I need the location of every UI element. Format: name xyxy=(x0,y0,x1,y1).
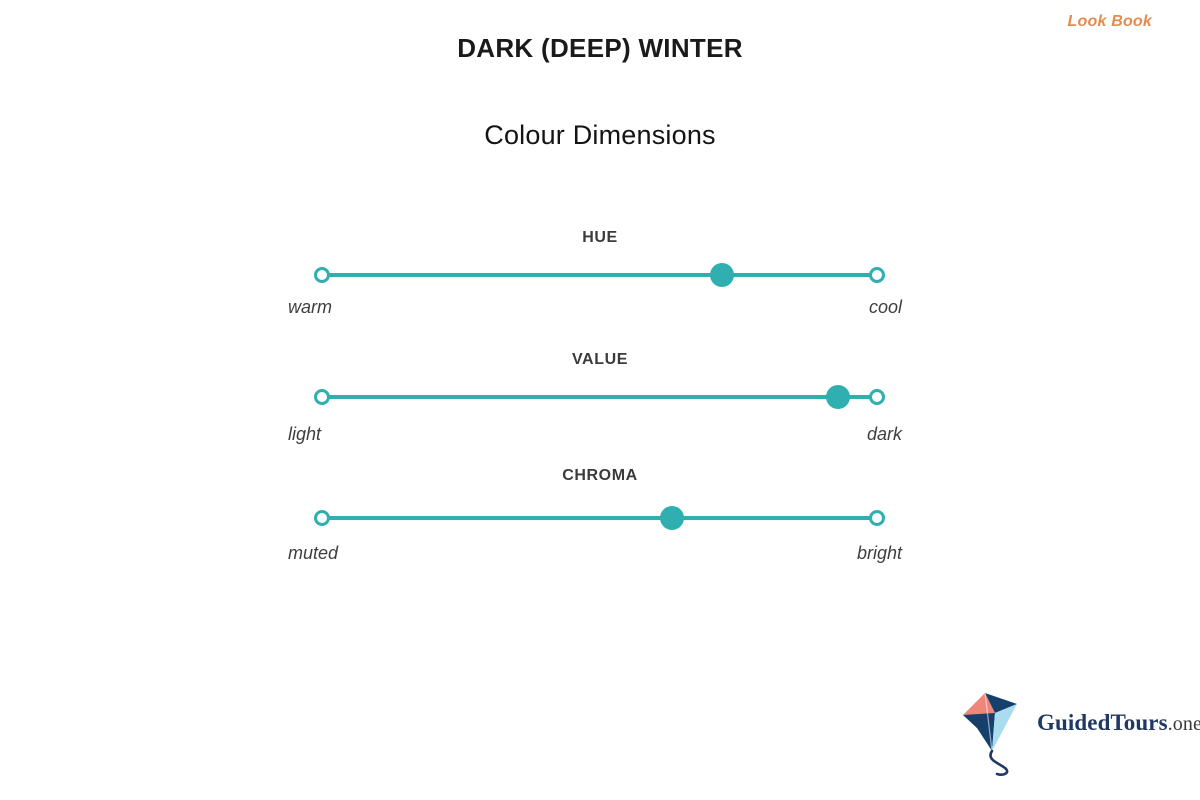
look-book-tag: Look Book xyxy=(1068,13,1152,31)
slider-high-label-value: dark xyxy=(867,424,902,445)
slider-endpoint-low[interactable] xyxy=(314,510,330,526)
kite-icon xyxy=(955,682,1035,777)
slider-track-chroma[interactable] xyxy=(322,508,877,528)
slider-endpoint-low[interactable] xyxy=(314,267,330,283)
look-book-page: Look Book DARK (DEEP) WINTER Colour Dime… xyxy=(0,0,1200,800)
slider-thumb-hue[interactable] xyxy=(710,263,734,287)
slider-low-label-hue: warm xyxy=(288,297,332,318)
slider-endpoint-low[interactable] xyxy=(314,389,330,405)
slider-endpoint-high[interactable] xyxy=(869,267,885,283)
page-subtitle: Colour Dimensions xyxy=(0,120,1200,151)
slider-track-line xyxy=(322,516,877,520)
slider-thumb-chroma[interactable] xyxy=(660,506,684,530)
slider-track-line xyxy=(322,395,877,399)
slider-track-hue[interactable] xyxy=(322,265,877,285)
slider-high-label-chroma: bright xyxy=(857,543,902,564)
slider-label-hue: HUE xyxy=(0,229,1200,247)
brand-wordmark: GuidedTours.one xyxy=(1037,710,1200,736)
slider-label-value: VALUE xyxy=(0,351,1200,369)
slider-low-label-chroma: muted xyxy=(288,543,338,564)
slider-thumb-value[interactable] xyxy=(826,385,850,409)
slider-low-label-value: light xyxy=(288,424,321,445)
brand-tld: .one xyxy=(1168,713,1200,735)
brand-name: GuidedTours xyxy=(1037,710,1168,735)
slider-endpoint-high[interactable] xyxy=(869,389,885,405)
slider-track-value[interactable] xyxy=(322,387,877,407)
slider-high-label-hue: cool xyxy=(869,297,902,318)
slider-endpoint-high[interactable] xyxy=(869,510,885,526)
slider-track-line xyxy=(322,273,877,277)
brand-logo: GuidedTours.one xyxy=(955,682,1195,782)
page-title: DARK (DEEP) WINTER xyxy=(0,33,1200,64)
slider-label-chroma: CHROMA xyxy=(0,467,1200,485)
